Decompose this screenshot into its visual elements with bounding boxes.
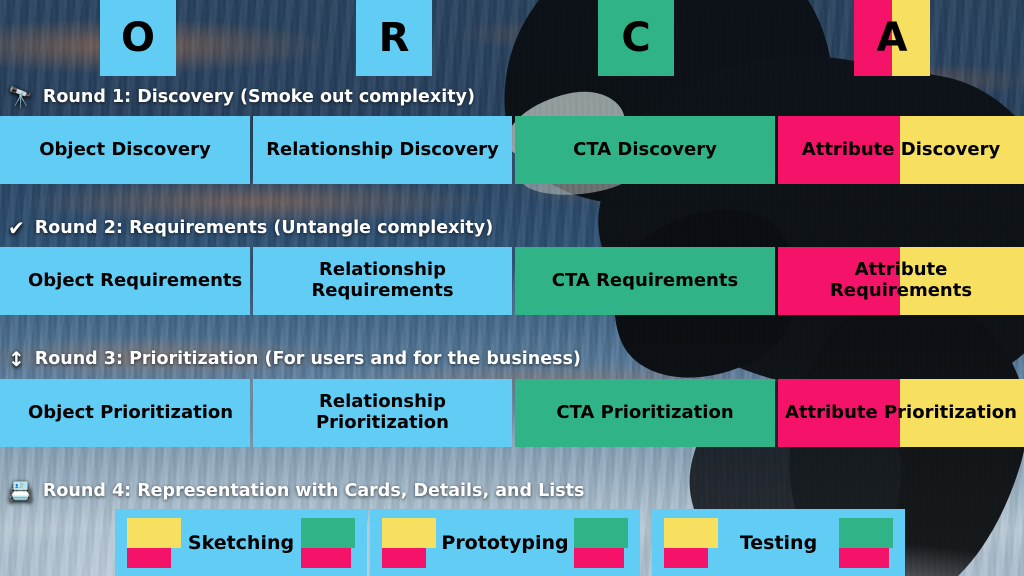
checkmark-icon: ✔: [8, 218, 25, 238]
bar-label: CTA Requirements: [552, 271, 738, 292]
acronym-letter-row: ORCA: [0, 0, 1024, 76]
artifact-chip-bottom: [664, 548, 708, 568]
artifact-chip-bottom: [127, 548, 171, 568]
bar-label: Attribute Prioritization: [785, 403, 1017, 424]
bar-label: Object Prioritization: [6, 403, 233, 424]
artifact-chip-stack-right: [301, 518, 355, 568]
round-3-bar-row: Object PrioritizationRelationship Priori…: [0, 379, 1024, 447]
round-title-1: Round 1: Discovery (Smoke out complexity…: [43, 87, 475, 107]
bar-round1-3[interactable]: Attribute Discovery: [778, 116, 1024, 184]
artifact-card-prototyping[interactable]: Prototyping: [370, 509, 640, 576]
bar-round2-0[interactable]: Object Requirements: [0, 247, 250, 315]
bar-label: CTA Discovery: [573, 140, 717, 161]
acronym-letter-glyph: C: [621, 15, 650, 61]
artifact-chip-top: [301, 518, 355, 548]
acronym-letter-c: C: [598, 0, 674, 76]
round-header-2: ✔Round 2: Requirements (Untangle complex…: [8, 213, 493, 243]
orca-framework-slide: ORCA 🔭Round 1: Discovery (Smoke out comp…: [0, 0, 1024, 576]
bar-round2-2[interactable]: CTA Requirements: [515, 247, 775, 315]
bar-round1-1[interactable]: Relationship Discovery: [253, 116, 512, 184]
round4-artifact-row: SketchingPrototypingTesting: [0, 509, 1024, 576]
artifact-chip-top: [574, 518, 628, 548]
acronym-letter-a: A: [854, 0, 930, 76]
artifact-chip-top: [127, 518, 181, 548]
artifact-chip-bottom: [382, 548, 426, 568]
artifact-card-testing[interactable]: Testing: [652, 509, 905, 576]
bar-round1-2[interactable]: CTA Discovery: [515, 116, 775, 184]
artifact-chip-bottom: [839, 548, 889, 568]
artifact-label: Prototyping: [441, 532, 568, 554]
bar-round2-3[interactable]: Attribute Requirements: [778, 247, 1024, 315]
bar-label: Relationship Discovery: [266, 140, 499, 161]
artifact-chip-top: [664, 518, 718, 548]
artifact-chip-top: [382, 518, 436, 548]
bar-round1-0[interactable]: Object Discovery: [0, 116, 250, 184]
round-header-1: 🔭Round 1: Discovery (Smoke out complexit…: [8, 82, 475, 112]
acronym-letter-r: R: [356, 0, 432, 76]
bar-round3-2[interactable]: CTA Prioritization: [515, 379, 775, 447]
round-title-4: Round 4: Representation with Cards, Deta…: [43, 481, 585, 501]
up-down-arrow-icon: ↕: [8, 349, 25, 369]
bar-label: Relationship Prioritization: [259, 392, 506, 433]
artifact-label: Sketching: [188, 532, 294, 554]
binoculars-icon: 🔭: [8, 87, 33, 107]
artifact-card-sketching[interactable]: Sketching: [115, 509, 367, 576]
round-title-3: Round 3: Prioritization (For users and f…: [35, 349, 581, 369]
acronym-letter-glyph: O: [121, 15, 155, 61]
bar-label: Object Discovery: [39, 140, 211, 161]
artifact-label: Testing: [740, 532, 817, 554]
bar-label: Relationship Requirements: [259, 260, 506, 301]
bar-round3-1[interactable]: Relationship Prioritization: [253, 379, 512, 447]
bar-round3-3[interactable]: Attribute Prioritization: [778, 379, 1024, 447]
bar-round3-0[interactable]: Object Prioritization: [0, 379, 250, 447]
artifact-chip-bottom: [301, 548, 351, 568]
round-2-bar-row: Object RequirementsRelationship Requirem…: [0, 247, 1024, 315]
acronym-letter-glyph: A: [877, 15, 908, 61]
artifact-chip-bottom: [574, 548, 624, 568]
round-header-4: 📇Round 4: Representation with Cards, Det…: [8, 476, 584, 506]
bar-label: Attribute Requirements: [784, 260, 1018, 301]
id-card-icon: 📇: [8, 481, 33, 501]
artifact-chip-top: [839, 518, 893, 548]
artifact-chip-stack-left: [127, 518, 181, 568]
bar-label: Object Requirements: [6, 271, 242, 292]
artifact-chip-stack-left: [664, 518, 718, 568]
artifact-chip-stack-right: [839, 518, 893, 568]
round-title-2: Round 2: Requirements (Untangle complexi…: [35, 218, 493, 238]
artifact-chip-stack-left: [382, 518, 436, 568]
bar-round2-1[interactable]: Relationship Requirements: [253, 247, 512, 315]
acronym-letter-o: O: [100, 0, 176, 76]
acronym-letter-glyph: R: [379, 15, 410, 61]
round-1-bar-row: Object DiscoveryRelationship DiscoveryCT…: [0, 116, 1024, 184]
bar-label: Attribute Discovery: [802, 140, 1000, 161]
artifact-chip-stack-right: [574, 518, 628, 568]
bar-label: CTA Prioritization: [556, 403, 733, 424]
round-header-3: ↕Round 3: Prioritization (For users and …: [8, 344, 581, 374]
